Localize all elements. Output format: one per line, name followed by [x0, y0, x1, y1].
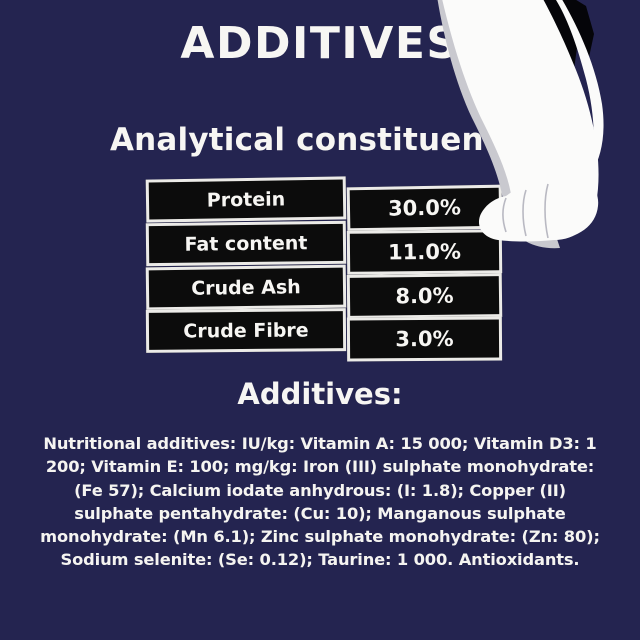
table-row: Protein [146, 176, 347, 222]
dog-toe-line-3 [545, 184, 548, 238]
table-row: Fat content [146, 221, 347, 266]
table-row: Crude Fibre [146, 308, 346, 353]
dog-toe-line-2 [523, 190, 526, 236]
page-title: ADDITIVES [0, 18, 640, 69]
additives-heading: Additives: [0, 377, 640, 411]
dog-toe-line-1 [503, 198, 506, 232]
table-row: 11.0% [347, 229, 502, 275]
table-row: 3.0% [347, 316, 502, 361]
table-row: 30.0% [347, 185, 503, 232]
additives-panel: ADDITIVES Analytical constituents: Prote… [0, 0, 640, 640]
table-row: 8.0% [347, 273, 503, 319]
additives-body-text: Nutritional additives: IU/kg: Vitamin A:… [38, 432, 602, 572]
table-row: Crude Ash [146, 265, 347, 311]
analytical-constituents-table: Protein Fat content Crude Ash Crude Fibr… [146, 178, 502, 353]
analytical-constituents-heading: Analytical constituents: [0, 122, 640, 158]
